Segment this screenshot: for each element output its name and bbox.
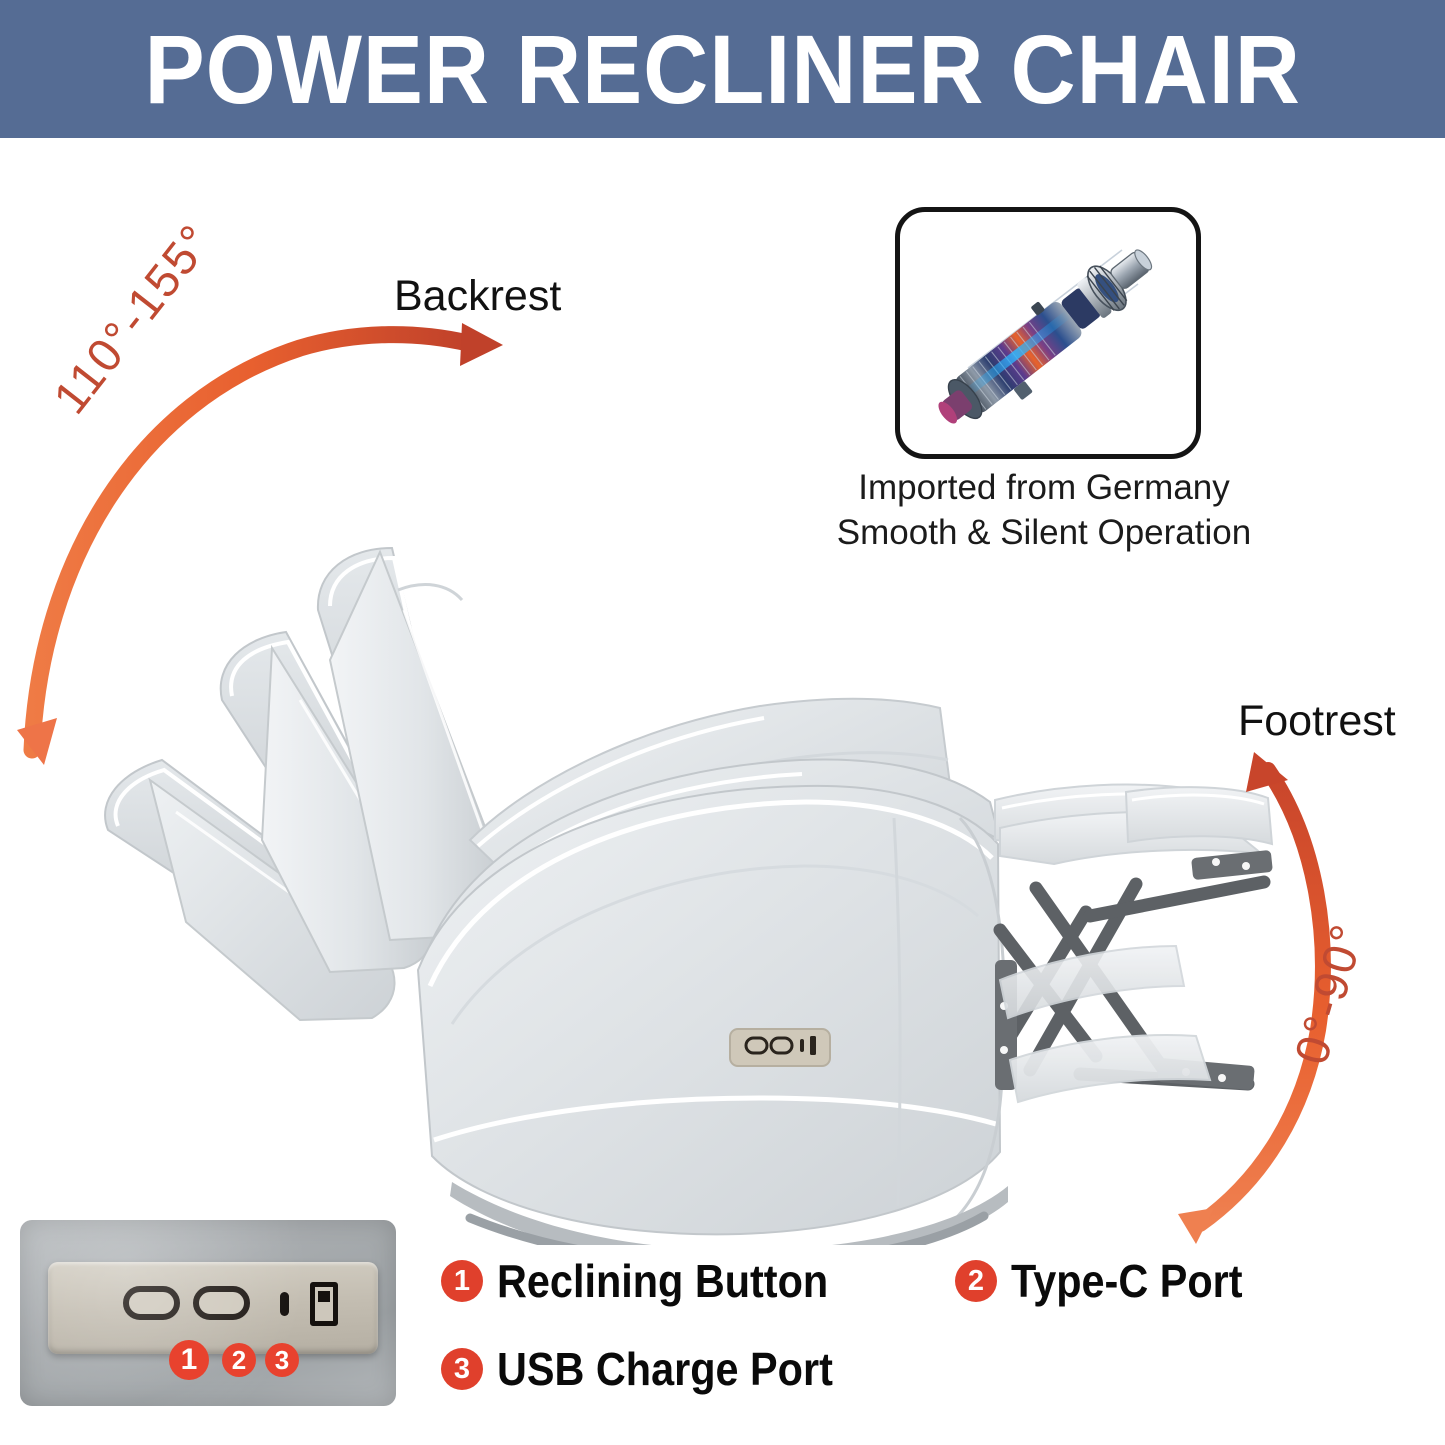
motor-caption-line-2: Smooth & Silent Operation: [805, 511, 1283, 556]
electric-motor-rotor-icon: [900, 212, 1196, 454]
oval-button-icon-right[interactable]: [193, 1286, 250, 1320]
legend-badge-1: 1: [441, 1260, 483, 1302]
backrest-label: Backrest: [394, 272, 561, 321]
oval-button-icon-left[interactable]: [123, 1286, 180, 1320]
footrest-label: Footrest: [1238, 697, 1396, 746]
usb-port-icon[interactable]: [310, 1282, 338, 1326]
panel-badge-3: 3: [265, 1343, 299, 1377]
legend-item-usb-charge-port: 3 USB Charge Port: [441, 1342, 870, 1396]
control-panel-strip: [48, 1262, 378, 1354]
motor-callout-box: [895, 207, 1201, 459]
header-banner: POWER RECLINER CHAIR: [0, 0, 1445, 138]
type-c-port-icon[interactable]: [280, 1292, 289, 1316]
legend-item-reclining-button: 1 Reclining Button: [441, 1254, 865, 1308]
legend-badge-3: 3: [441, 1348, 483, 1390]
legend-label-2: Type-C Port: [1011, 1254, 1243, 1308]
page-title: POWER RECLINER CHAIR: [144, 21, 1300, 118]
legend-label-3: USB Charge Port: [497, 1342, 833, 1396]
motor-caption-line-1: Imported from Germany: [805, 466, 1283, 511]
panel-badge-1: 1: [169, 1340, 209, 1380]
legend-badge-2: 2: [955, 1260, 997, 1302]
legend-label-1: Reclining Button: [497, 1254, 828, 1308]
footrest-assembly: [995, 785, 1273, 1102]
recliner-chair-illustration: [0, 140, 1445, 1245]
legend-item-type-c-port: 2 Type-C Port: [955, 1254, 1268, 1308]
control-panel-photo-inset: [20, 1220, 396, 1406]
chair-side-control-panel-icon: [730, 1029, 830, 1066]
panel-badge-2: 2: [222, 1343, 256, 1377]
motor-caption: Imported from Germany Smooth & Silent Op…: [805, 466, 1283, 556]
